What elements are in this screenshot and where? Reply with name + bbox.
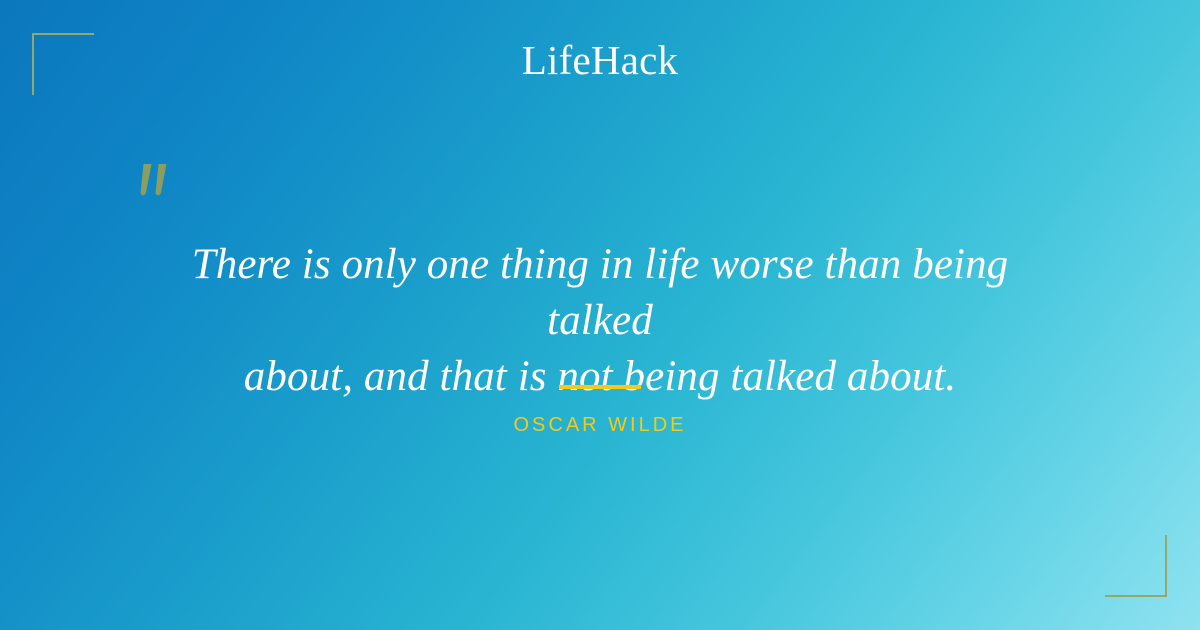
quote-line-2: about, and that is not being talked abou… (145, 349, 1055, 405)
quote-text: There is only one thing in life worse th… (145, 237, 1055, 405)
divider-rule (559, 385, 641, 389)
corner-bracket-bottom-right-icon (1105, 535, 1167, 597)
quote-line-1: There is only one thing in life worse th… (145, 237, 1055, 349)
quote-block: There is only one thing in life worse th… (100, 237, 1100, 405)
brand-logo: LifeHack (0, 38, 1200, 82)
quote-author: OSCAR WILDE (0, 414, 1200, 437)
open-quote-mark-icon (133, 156, 179, 216)
quote-card: LifeHack There is only one thing in life… (0, 0, 1200, 630)
